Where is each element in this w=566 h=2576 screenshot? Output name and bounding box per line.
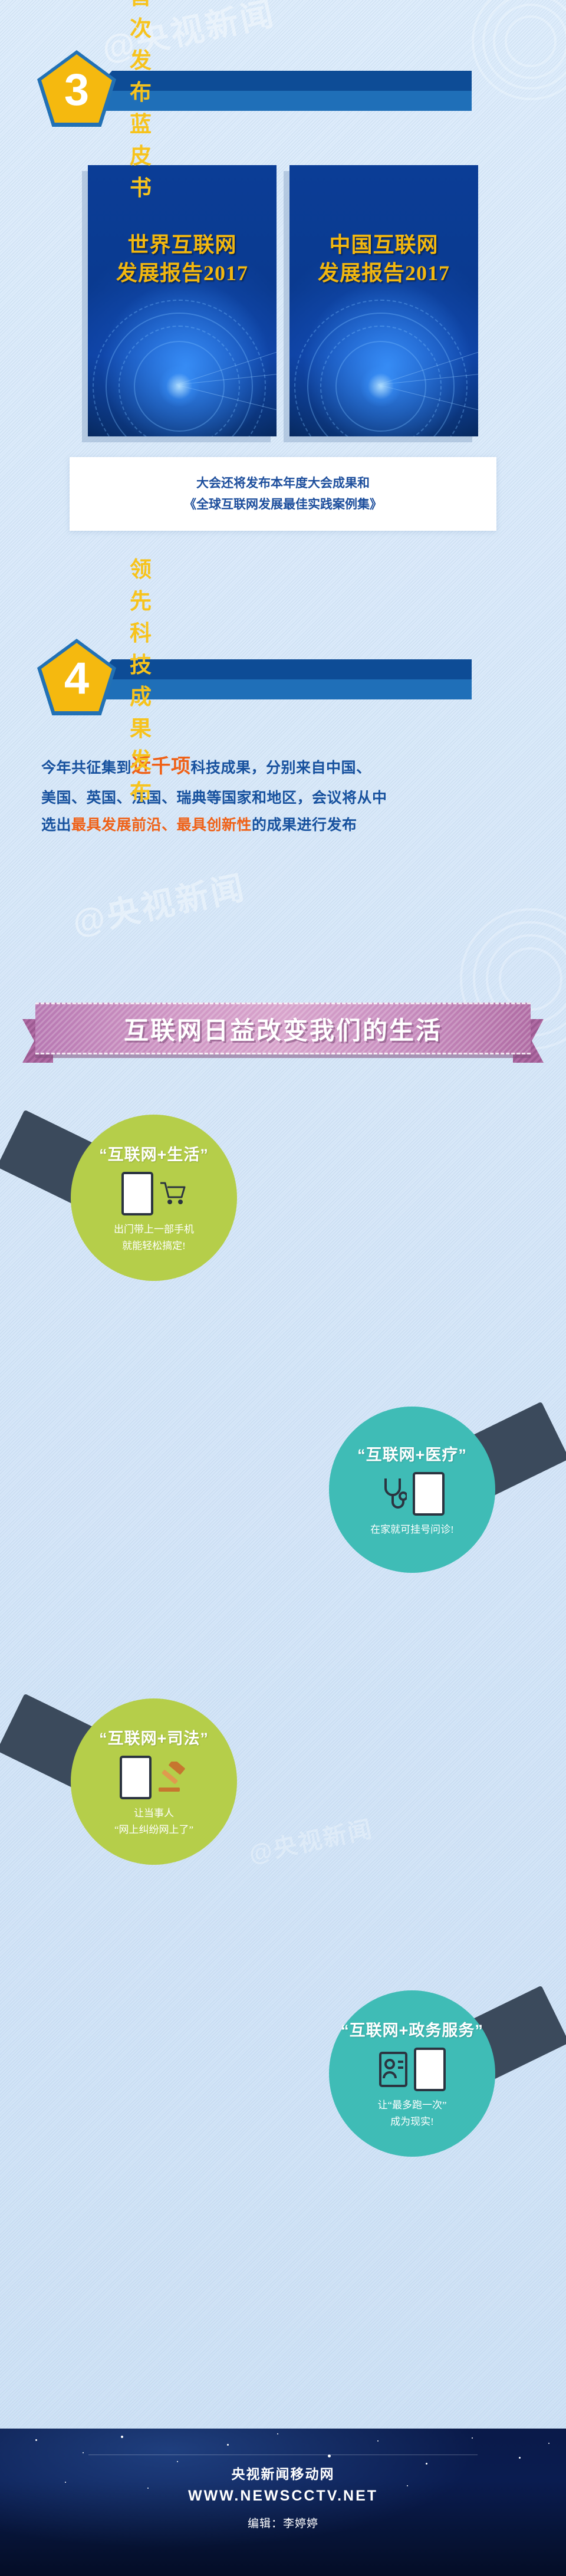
footer-brand: 央视新闻移动网 (0, 2463, 566, 2483)
card-desc-line1: 在家就可挂号问诊! (370, 1522, 454, 1537)
caption-line-1: 大会还将发布本年度大会成果和 (196, 473, 370, 494)
ribbon-banner: 互联网日益改变我们的生活 (0, 985, 566, 1073)
ribbon-body: 互联网日益改变我们的生活 (35, 1003, 531, 1054)
card-icons (120, 1756, 188, 1799)
tablet-icon (121, 1172, 153, 1215)
book-bg-graphic (88, 165, 277, 436)
card-government: “互联网+政务服务” 让“最多跑一次” 成为现实! (0, 1990, 566, 2191)
topic-circle-justice: “互联网+司法” 让当事人 “网上纠纷网上了” (71, 1698, 237, 1865)
book-title-line2: 发展报告2017 (289, 259, 478, 288)
card-desc-line2: “网上纠纷网上了” (114, 1822, 193, 1838)
para-part-4: 选出 (41, 817, 71, 833)
footer-url[interactable]: WWW.NEWSCCTV.NET (0, 2488, 566, 2505)
card-title: “互联网+医疗” (357, 1442, 467, 1465)
card-life: “互联网+生活” 出门带上一部手机 就能轻松搞定! (0, 1115, 566, 1315)
book-bg-graphic (289, 165, 478, 436)
card-icons (121, 1172, 186, 1215)
card-desc-line1: 让当事人 (134, 1805, 174, 1821)
footer-editor: 编辑：李婷婷 (0, 2515, 566, 2531)
infographic-page: @央视新闻 @央视新闻 @央视新闻 3 首次发布蓝皮书 世界互联网 (0, 0, 566, 2576)
section-4-paragraph: 今年共征集到近千项科技成果，分别来自中国、 美国、英国、法国、瑞典等国家和地区，… (41, 749, 531, 840)
para-part-1: 今年共征集到 (41, 760, 131, 776)
book-covers: 世界互联网 发展报告2017 中国互联网 发展报告2017 (0, 165, 566, 436)
card-icons (379, 2048, 446, 2091)
pentagon-badge-4: 4 (41, 643, 112, 711)
pentagon-badge-3: 3 (41, 54, 112, 123)
book-cover-china: 中国互联网 发展报告2017 (289, 165, 478, 436)
stethoscope-icon (380, 1476, 407, 1512)
para-part-5: 的成果进行发布 (252, 817, 357, 833)
card-desc-line1: 让“最多跑一次” (377, 2097, 446, 2113)
caption-card: 大会还将发布本年度大会成果和 《全球互联网发展最佳实践案例集》 (70, 457, 496, 531)
card-desc-line2: 就能轻松搞定! (122, 1238, 186, 1254)
section-number: 4 (64, 656, 89, 701)
ribbon-text: 互联网日益改变我们的生活 (124, 1011, 442, 1047)
footer-divider (88, 2455, 478, 2455)
section-title-3: 首次发布蓝皮书 (130, 72, 153, 109)
gavel-icon (157, 1762, 188, 1793)
watermark-top: @央视新闻 (97, 0, 279, 70)
section-number: 3 (64, 68, 89, 113)
card-title: “互联网+政务服务” (341, 2018, 483, 2041)
book-title-world: 世界互联网 发展报告2017 (88, 231, 277, 287)
para-part-3: 美国、英国、法国、瑞典等国家和地区，会议将从中 (41, 790, 387, 806)
card-title: “互联网+生活” (99, 1142, 209, 1165)
user-card-icon (379, 2051, 408, 2088)
book-title-line1: 世界互联网 (88, 231, 277, 259)
card-title: “互联网+司法” (99, 1726, 209, 1749)
card-medical: “互联网+医疗” 在家就可挂号问诊! (0, 1407, 566, 1607)
para-highlight-2: 最具发展前沿、最具创新性 (71, 817, 252, 833)
tablet-icon (414, 2048, 446, 2091)
caption-line-2: 《全球互联网发展最佳实践案例集》 (184, 494, 382, 515)
tablet-icon (413, 1472, 445, 1516)
section-title-4: 领先科技成果发布 (130, 661, 153, 697)
shopping-cart-icon (159, 1181, 186, 1207)
book-cover-world: 世界互联网 发展报告2017 (88, 165, 277, 436)
tablet-icon (120, 1756, 152, 1799)
book-title-line1: 中国互联网 (289, 231, 478, 259)
topic-circle-government: “互联网+政务服务” 让“最多跑一次” 成为现实! (329, 1990, 495, 2157)
book-title-line2: 发展报告2017 (88, 259, 277, 288)
decorative-arcs-top (460, 0, 566, 112)
topic-circle-medical: “互联网+医疗” 在家就可挂号问诊! (329, 1407, 495, 1573)
para-part-2: 科技成果，分别来自中国、 (191, 760, 371, 776)
book-title-china: 中国互联网 发展报告2017 (289, 231, 478, 287)
watermark-middle: @央视新闻 (68, 861, 250, 944)
card-icons (380, 1472, 445, 1516)
topic-circle-life: “互联网+生活” 出门带上一部手机 就能轻松搞定! (71, 1115, 237, 1281)
card-justice: “互联网+司法” 让当事人 “网上纠纷网上了” (0, 1698, 566, 1899)
card-desc-line1: 出门带上一部手机 (114, 1221, 194, 1237)
footer: 央视新闻移动网 WWW.NEWSCCTV.NET 编辑：李婷婷 (0, 2429, 566, 2576)
card-desc-line2: 成为现实! (390, 2114, 434, 2130)
